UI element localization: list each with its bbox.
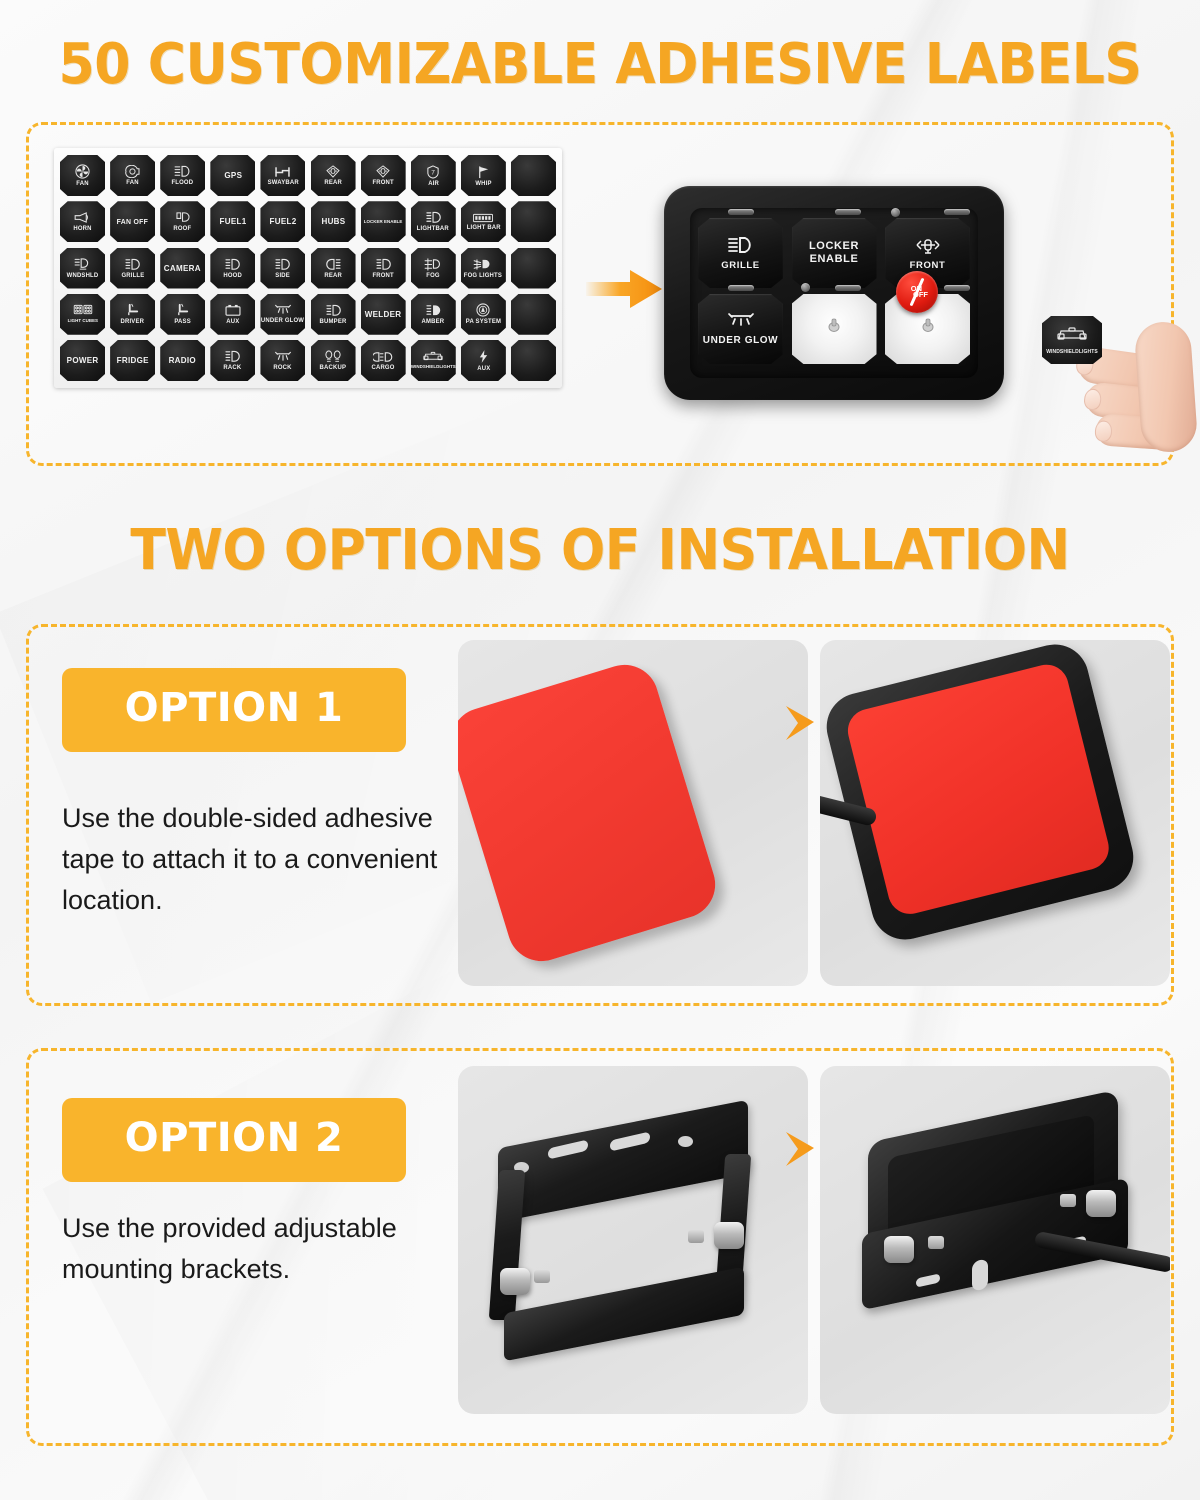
label-text: FOG LIGHTS	[464, 272, 502, 279]
adhesive-label-cargo: CARGO	[361, 340, 406, 381]
adhesive-label-wndshld: WNDSHLD	[60, 248, 105, 289]
adhesive-label-rock: ROCK	[260, 340, 305, 381]
label-text: CAMERA	[164, 265, 201, 272]
switch-button-blank-lit-1[interactable]	[792, 294, 877, 364]
bracket-left-arm	[489, 1170, 525, 1320]
cargo-light-icon	[373, 351, 393, 363]
option2-description: Use the provided adjustable mounting bra…	[62, 1208, 482, 1290]
label-text: RACK	[224, 364, 242, 371]
label-text: FAN	[126, 179, 138, 186]
shock-front-icon	[914, 236, 942, 258]
label-row: WNDSHLDGRILLECAMERAHOODSIDEREARFRONTFOGF…	[60, 248, 556, 289]
label-text: SIDE	[276, 272, 291, 279]
label-text: HUBS	[321, 218, 345, 225]
fingernail	[1083, 388, 1102, 411]
adhesive-label-backup: BACKUP	[311, 340, 356, 381]
windshield-light-icon	[74, 258, 92, 271]
fingernail	[1094, 420, 1112, 442]
windshield-bar-icon	[1055, 326, 1089, 347]
adhesive-label-under-glow: UNDER GLOW	[260, 294, 305, 335]
bracket-top-plate	[498, 1100, 748, 1223]
option2-badge: OPTION 2	[62, 1098, 406, 1182]
grille-light-icon	[124, 258, 141, 271]
page-title-labels: 50 CUSTOMIZABLE ADHESIVE LABELS	[42, 32, 1158, 97]
label-text: AMBER	[422, 318, 445, 325]
page-title-installation: TWO OPTIONS OF INSTALLATION	[42, 518, 1158, 583]
switch-button-under-glow[interactable]: UNDER GLOW	[698, 294, 783, 364]
label-text: AUX	[477, 365, 490, 372]
adhesive-label-blank	[511, 248, 556, 289]
label-text: WINDSHIELDLIGHTS	[411, 363, 456, 370]
label-text: FOG	[427, 272, 440, 279]
label-row: LIGHT CUBESDRIVERPASSAUXUNDER GLOWBUMPER…	[60, 294, 556, 335]
led-indicator	[728, 285, 754, 291]
adhesive-label-light-bar: LIGHT BAR	[461, 201, 506, 242]
bracket-screw-stem	[688, 1230, 704, 1243]
switch-row-bottom: OFF ON UNDER GLOW	[698, 294, 970, 370]
label-text: LIGHTBAR	[417, 225, 449, 232]
adhesive-label-blank	[511, 340, 556, 381]
label-row: HORNFAN OFFROOFFUEL1FUEL2HUBSLOCKER ENAB…	[60, 201, 556, 242]
switch-label: GRILLE	[721, 260, 759, 271]
adhesive-label-blank	[511, 155, 556, 196]
adhesive-label-flood: FLOOD	[160, 155, 205, 196]
lightbar-beam-icon	[425, 211, 442, 224]
label-text: UNDER GLOW	[261, 317, 304, 324]
bumper-light-icon	[325, 304, 342, 317]
adhesive-label-power: POWER	[60, 340, 105, 381]
adhesive-label-front: FRONT	[361, 248, 406, 289]
hood-light-icon	[224, 258, 241, 271]
adhesive-label-horn: HORN	[60, 201, 105, 242]
on-text: ON	[911, 285, 922, 293]
label-text: FRONT	[372, 272, 393, 279]
label-text: WINDSHIELDLIGHTS	[1046, 349, 1098, 355]
label-text: AIR	[428, 180, 439, 187]
label-text: PASS	[174, 318, 191, 325]
rock-light-icon	[274, 351, 292, 363]
adhesive-label-swaybar: SWAYBAR	[260, 155, 305, 196]
front-light-icon	[375, 258, 392, 271]
adhesive-label-radio: RADIO	[160, 340, 205, 381]
label-text: BUMPER	[320, 318, 347, 325]
label-text: HOOD	[224, 272, 243, 279]
adhesive-label-roof: ROOF	[160, 201, 205, 242]
hand-palm	[1134, 320, 1199, 454]
blank-switch-icon	[917, 316, 939, 340]
underglow-icon	[727, 312, 755, 333]
label-text: WNDSHLD	[67, 272, 99, 279]
adhesive-label-windshieldlights: WINDSHIELDLIGHTS	[411, 340, 456, 381]
label-text: PA SYSTEM	[466, 318, 501, 325]
lightning-bolt-icon	[478, 349, 489, 364]
roof-light-icon	[175, 211, 191, 224]
adhesive-label-fridge: FRIDGE	[110, 340, 155, 381]
bracket-screw-stem	[1060, 1194, 1076, 1207]
side-light-icon	[274, 258, 291, 271]
lightbar-row-icon	[472, 213, 494, 223]
adhesive-label-air: 7AIR	[411, 155, 456, 196]
switch-button-grille[interactable]: GRILLE	[698, 218, 783, 288]
shock-rear-icon	[325, 165, 341, 178]
adhesive-label-gps: GPS	[210, 155, 255, 196]
label-text: POWER	[67, 357, 99, 364]
photo-panel-with-adhesive-pad	[820, 640, 1170, 986]
adhesive-label-whip: WHIP	[461, 155, 506, 196]
label-text: LOCKER ENABLE	[364, 218, 403, 226]
rack-light-icon	[224, 350, 241, 363]
backup-lights-icon	[324, 350, 342, 363]
air-compressor-icon: 7	[426, 165, 440, 179]
adhesive-label-welder: WELDER	[361, 294, 406, 335]
rear-light-icon	[325, 258, 342, 271]
switch-panel: GRILLE LOCKER ENABLE	[664, 186, 1004, 400]
pa-speaker-icon	[476, 303, 490, 317]
adhesive-label-driver: DRIVER	[110, 294, 155, 335]
status-led	[891, 208, 900, 217]
switch-panel-face: GRILLE LOCKER ENABLE	[690, 208, 978, 378]
bracket-screw-stem	[928, 1236, 944, 1249]
adhesive-label-fuel2: FUEL2	[260, 201, 305, 242]
bracket-screw-stem	[534, 1270, 550, 1283]
adhesive-label-camera: CAMERA	[160, 248, 205, 289]
flood-light-icon	[174, 165, 192, 178]
shock-front-icon	[375, 165, 391, 178]
switch-panel-back-with-pad	[820, 640, 1141, 947]
whip-flag-icon	[476, 165, 490, 179]
adhesive-label-fog-lights: FOG LIGHTS	[461, 248, 506, 289]
bracket-slot	[972, 1258, 988, 1291]
adhesive-label-fog: FOG	[411, 248, 456, 289]
red-adhesive-pad	[458, 656, 724, 969]
label-text: AUX	[226, 318, 239, 325]
option1-description: Use the double-sided adhesive tape to at…	[62, 798, 482, 921]
amber-light-icon	[425, 304, 442, 317]
adhesive-label-blank	[511, 201, 556, 242]
adhesive-label-rear: REAR	[311, 155, 356, 196]
photo-red-adhesive-pad	[458, 640, 808, 986]
switch-label: LOCKER ENABLE	[792, 240, 877, 266]
led-indicator	[944, 285, 970, 291]
label-text: LIGHT CUBES	[67, 317, 97, 324]
svg-text:7: 7	[431, 169, 435, 176]
label-text: RADIO	[169, 357, 196, 364]
label-text: WELDER	[365, 311, 402, 318]
adhesive-label-rack: RACK	[210, 340, 255, 381]
label-text: DRIVER	[121, 318, 145, 325]
adhesive-label-side: SIDE	[260, 248, 305, 289]
adhesive-label-hubs: HUBS	[311, 201, 356, 242]
label-row: FANFANFLOODGPSSWAYBARREARFRONT7AIRWHIP	[60, 155, 556, 196]
led-indicator	[835, 209, 861, 215]
blank-switch-icon	[823, 316, 845, 340]
label-text: SWAYBAR	[267, 179, 298, 186]
led-indicator	[728, 209, 754, 215]
grille-light-icon	[728, 236, 754, 258]
adhesive-label-hood: HOOD	[210, 248, 255, 289]
adhesive-label-fuel1: FUEL1	[210, 201, 255, 242]
battery-icon	[225, 304, 241, 317]
label-text: LIGHT BAR	[466, 224, 500, 231]
led-indicator	[944, 209, 970, 215]
adhesive-label-blank	[511, 294, 556, 335]
label-row: POWERFRIDGERADIORACKROCKBACKUPCARGOWINDS…	[60, 340, 556, 381]
label-text: FUEL1	[219, 218, 246, 225]
seat-passenger-icon	[176, 303, 190, 317]
label-text: FRONT	[372, 179, 393, 186]
label-text: ROOF	[174, 225, 192, 232]
label-text: ROCK	[274, 364, 292, 371]
label-text: CARGO	[372, 364, 395, 371]
adhesive-label-front: FRONT	[361, 155, 406, 196]
fan-motor-icon	[124, 165, 141, 178]
fog-lights-icon	[473, 258, 493, 271]
label-text: GPS	[224, 172, 242, 179]
label-text: HORN	[73, 225, 91, 232]
bracket-thumbscrew[interactable]	[500, 1268, 530, 1295]
bracket-thumbscrew[interactable]	[714, 1222, 744, 1249]
adhesive-label-aux: AUX	[461, 340, 506, 381]
label-text: REAR	[324, 179, 342, 186]
label-text: BACKUP	[320, 364, 347, 371]
adhesive-label-pass: PASS	[160, 294, 205, 335]
switch-button-locker-enable[interactable]: LOCKER ENABLE	[792, 218, 877, 288]
label-text: REAR	[324, 272, 342, 279]
adhesive-label-light-cubes: LIGHT CUBES	[60, 294, 105, 335]
label-text: GRILLE	[121, 272, 144, 279]
adhesive-label-fan: FAN	[60, 155, 105, 196]
infographic-page: 50 CUSTOMIZABLE ADHESIVE LABELS FANFANFL…	[0, 0, 1200, 1500]
adhesive-label-amber: AMBER	[411, 294, 456, 335]
switch-label: FRONT	[910, 260, 946, 271]
adhesive-label-bumper: BUMPER	[311, 294, 356, 335]
mounting-bracket	[492, 1118, 772, 1360]
light-cubes-icon	[73, 304, 93, 316]
adhesive-label-lightbar: LIGHTBAR	[411, 201, 456, 242]
windshield-bar-icon	[422, 351, 444, 362]
arrow-right-icon	[586, 268, 662, 310]
power-off-on-button[interactable]: OFF ON	[896, 271, 938, 313]
status-led	[801, 283, 810, 292]
hand-holding-label: WINDSHIELDLIGHTS	[1020, 296, 1180, 466]
label-text: FRIDGE	[117, 357, 149, 364]
label-text: FAN OFF	[117, 218, 149, 226]
label-text: FUEL2	[269, 218, 296, 225]
adhesive-label-locker-enable: LOCKER ENABLE	[361, 201, 406, 242]
label-text: FAN	[76, 180, 88, 187]
adhesive-label-windshieldlights: WINDSHIELDLIGHTS	[1042, 316, 1102, 364]
underglow-icon	[274, 304, 292, 316]
adhesive-label-fan-off: FAN OFF	[110, 201, 155, 242]
adhesive-label-grille: GRILLE	[110, 248, 155, 289]
bracket-hole	[678, 1136, 693, 1147]
photo-mounting-bracket	[458, 1066, 808, 1414]
fog-light-icon	[424, 258, 442, 271]
label-text: FLOOD	[172, 179, 194, 186]
swaybar-icon	[274, 166, 291, 178]
switch-panel-mounted-in-bracket	[854, 1110, 1154, 1370]
adhesive-label-sheet: FANFANFLOODGPSSWAYBARREARFRONT7AIRWHIPHO…	[54, 148, 562, 388]
adhesive-label-pa-system: PA SYSTEM	[461, 294, 506, 335]
led-indicator	[835, 285, 861, 291]
adhesive-label-rear: REAR	[311, 248, 356, 289]
bracket-thumbscrew[interactable]	[884, 1236, 914, 1263]
adhesive-label-fan: FAN	[110, 155, 155, 196]
horn-icon	[74, 212, 92, 224]
label-text: WHIP	[475, 180, 491, 187]
fan-blade-icon	[75, 164, 90, 179]
bracket-thumbscrew[interactable]	[1086, 1190, 1116, 1217]
option1-badge: OPTION 1	[62, 668, 406, 752]
switch-label: UNDER GLOW	[703, 335, 778, 347]
seat-driver-icon	[126, 303, 140, 317]
adhesive-label-aux: AUX	[210, 294, 255, 335]
photo-panel-in-bracket	[820, 1066, 1170, 1414]
